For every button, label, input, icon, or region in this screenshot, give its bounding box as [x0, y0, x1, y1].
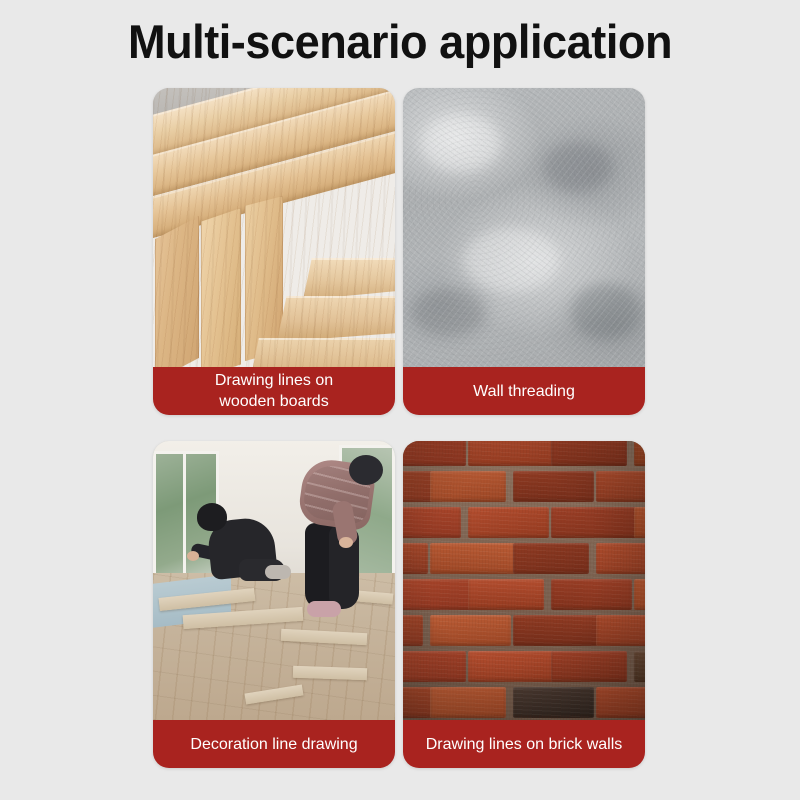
concrete-speckle-overlay: [403, 88, 645, 367]
brick-wall-photo: [403, 441, 645, 720]
brick: [403, 651, 466, 682]
stepped-board-1: [303, 258, 395, 300]
brick: [596, 543, 645, 574]
wooden-boards-photo: [153, 88, 395, 367]
brick: [513, 615, 599, 646]
card-row-top: Drawing lines on wooden boards Wall thre…: [153, 88, 645, 415]
scenario-card-grid: Drawing lines on wooden boards Wall thre…: [153, 88, 645, 768]
concrete-wall-photo: [403, 88, 645, 367]
floor-installation-photo: [153, 441, 395, 720]
caption-line-1: Decoration line drawing: [190, 734, 357, 755]
brick: [513, 687, 594, 718]
card-caption-wooden-boards: Drawing lines on wooden boards: [153, 367, 395, 415]
brick: [468, 507, 549, 538]
brick: [634, 579, 645, 610]
brick: [403, 579, 471, 610]
brick: [468, 651, 554, 682]
brick: [513, 543, 589, 574]
card-caption-wall-threading: Wall threading: [403, 367, 645, 415]
stepped-board-2: [277, 296, 395, 342]
concrete-blotch-2: [543, 142, 613, 192]
worker-left-head: [197, 503, 227, 531]
product-feature-page: Multi-scenario application: [0, 0, 800, 800]
brick: [403, 687, 433, 718]
worker-left-shoe: [265, 565, 291, 579]
brick: [403, 507, 461, 538]
scenario-card-brick-walls[interactable]: Drawing lines on brick walls: [403, 441, 645, 768]
scenario-card-decoration-line-drawing[interactable]: Decoration line drawing: [153, 441, 395, 768]
brick: [596, 687, 645, 718]
brick: [430, 543, 516, 574]
card-row-bottom: Decoration line drawing Drawing lines on…: [153, 441, 645, 768]
brick: [403, 615, 423, 646]
concrete-blotch-5: [571, 284, 641, 340]
card-caption-brick-walls: Drawing lines on brick walls: [403, 720, 645, 768]
worker-right-shoe: [307, 601, 341, 617]
upright-board-face-2: [201, 208, 241, 367]
brick: [596, 615, 645, 646]
page-title: Multi-scenario application: [16, 14, 784, 70]
brick: [403, 441, 466, 466]
caption-line-1: Wall threading: [473, 381, 575, 402]
brick: [551, 651, 627, 682]
concrete-blotch-4: [411, 288, 485, 336]
brick: [468, 441, 554, 466]
brick: [634, 651, 645, 682]
caption-line-1: Drawing lines on: [215, 370, 333, 391]
worker-right-head: [349, 455, 383, 485]
brick: [430, 471, 506, 502]
brick: [634, 441, 645, 466]
brick: [551, 579, 632, 610]
caption-line-2: wooden boards: [215, 391, 333, 412]
card-caption-decoration-line-drawing: Decoration line drawing: [153, 720, 395, 768]
concrete-blotch-3: [463, 228, 559, 292]
scenario-card-wall-threading[interactable]: Wall threading: [403, 88, 645, 415]
brick: [430, 615, 511, 646]
upright-board-face-1: [155, 216, 199, 367]
brick: [551, 441, 627, 466]
upright-board-face-3: [245, 196, 283, 361]
caption-line-1: Drawing lines on brick walls: [426, 734, 623, 755]
brick: [403, 543, 428, 574]
brick: [430, 687, 506, 718]
brick: [634, 507, 645, 538]
stepped-board-3: [249, 338, 395, 367]
worker-left-hand: [187, 551, 199, 561]
loose-plank-4: [293, 666, 367, 681]
worker-right-hand: [339, 537, 353, 548]
concrete-blotch-1: [421, 114, 501, 172]
brick: [551, 507, 637, 538]
brick: [403, 471, 433, 502]
brick: [596, 471, 645, 502]
brick: [513, 471, 594, 502]
scenario-card-wooden-boards[interactable]: Drawing lines on wooden boards: [153, 88, 395, 415]
brick: [468, 579, 544, 610]
